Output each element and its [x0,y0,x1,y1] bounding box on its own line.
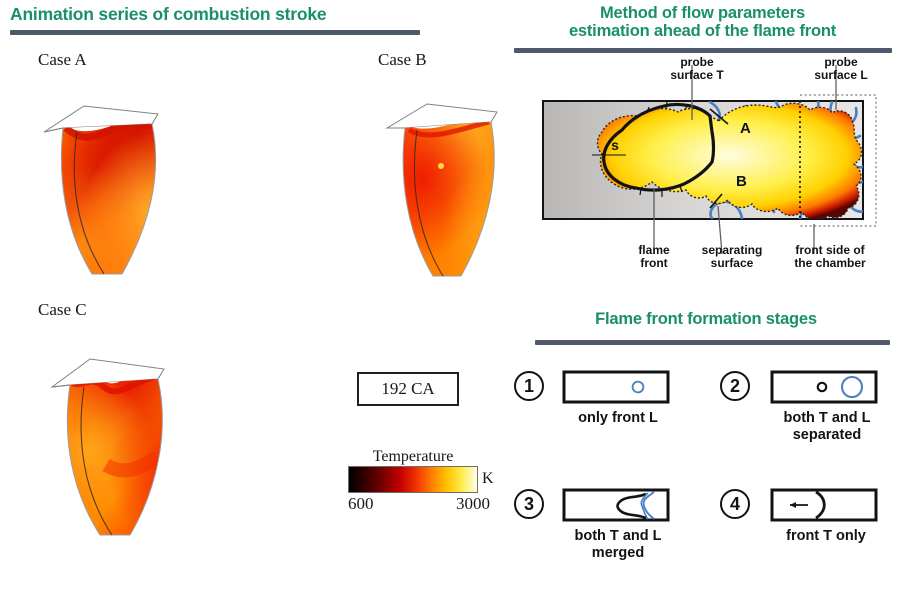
animation-series-panel: Animation series of combustion stroke Ca… [0,0,500,591]
method-title-line2: estimation ahead of the flame front [569,22,836,40]
stage-1-caption: only front L [540,410,696,427]
animation-series-rule [10,30,420,35]
case-b-label: Case B [378,50,427,70]
case-a-chamber [30,88,200,288]
colorbar-ticks: 600 3000 [348,494,486,514]
front-side-chamber-label: front side of the chamber [780,244,880,270]
stage-4-caption: front T only [746,528,900,545]
stage-2-icon [770,368,880,411]
colorbar-unit: K [482,470,494,488]
temperature-colorbar: Temperature K 600 3000 [348,448,486,514]
crank-angle-box: 192 CA [357,372,459,406]
stages-rule [535,340,890,345]
stage-3-icon [562,486,672,529]
method-title-line1: Method of flow parameters [600,4,805,22]
stage-4-number: 4 [720,489,750,519]
stage-1-icon [562,368,672,411]
flame-front-diagram: s A B [514,58,900,258]
stage-2-caption: both T and L separated [746,410,900,443]
method-rule [514,48,892,53]
stage-4: 4 front T only [718,480,900,566]
stages-panel: Flame front formation stages 1 only fron… [500,300,900,591]
case-a-label: Case A [38,50,87,70]
case-c-chamber [40,345,210,545]
colorbar-title: Temperature [348,448,478,466]
probe-surface-t-label: probe surface T [652,56,742,82]
svg-text:A: A [740,120,751,137]
stages-title: Flame front formation stages [520,310,892,328]
stage-2-number: 2 [720,371,750,401]
stage-1: 1 only front L [512,362,702,432]
separating-surface-label: separating surface [688,244,776,270]
probe-surface-l-label: probe surface L [796,56,886,82]
stage-3-number: 3 [514,489,544,519]
case-c-label: Case C [38,300,87,320]
flame-front-label: flame front [618,244,690,270]
colorbar-min: 600 [348,494,374,514]
method-panel: Method of flow parameters estimation ahe… [500,0,900,290]
stage-2: 2 both T and L separated [718,362,900,448]
stage-3: 3 both T and L merged [512,480,702,566]
stage-4-icon [770,486,880,529]
svg-text:B: B [736,173,747,190]
svg-text:s: s [611,137,619,153]
stage-1-number: 1 [514,371,544,401]
stage-3-caption: both T and L merged [538,528,698,561]
animation-series-title: Animation series of combustion stroke [10,5,430,25]
method-title: Method of flow parameters estimation ahe… [510,4,895,41]
colorbar-gradient [348,466,478,493]
colorbar-max: 3000 [456,494,490,514]
